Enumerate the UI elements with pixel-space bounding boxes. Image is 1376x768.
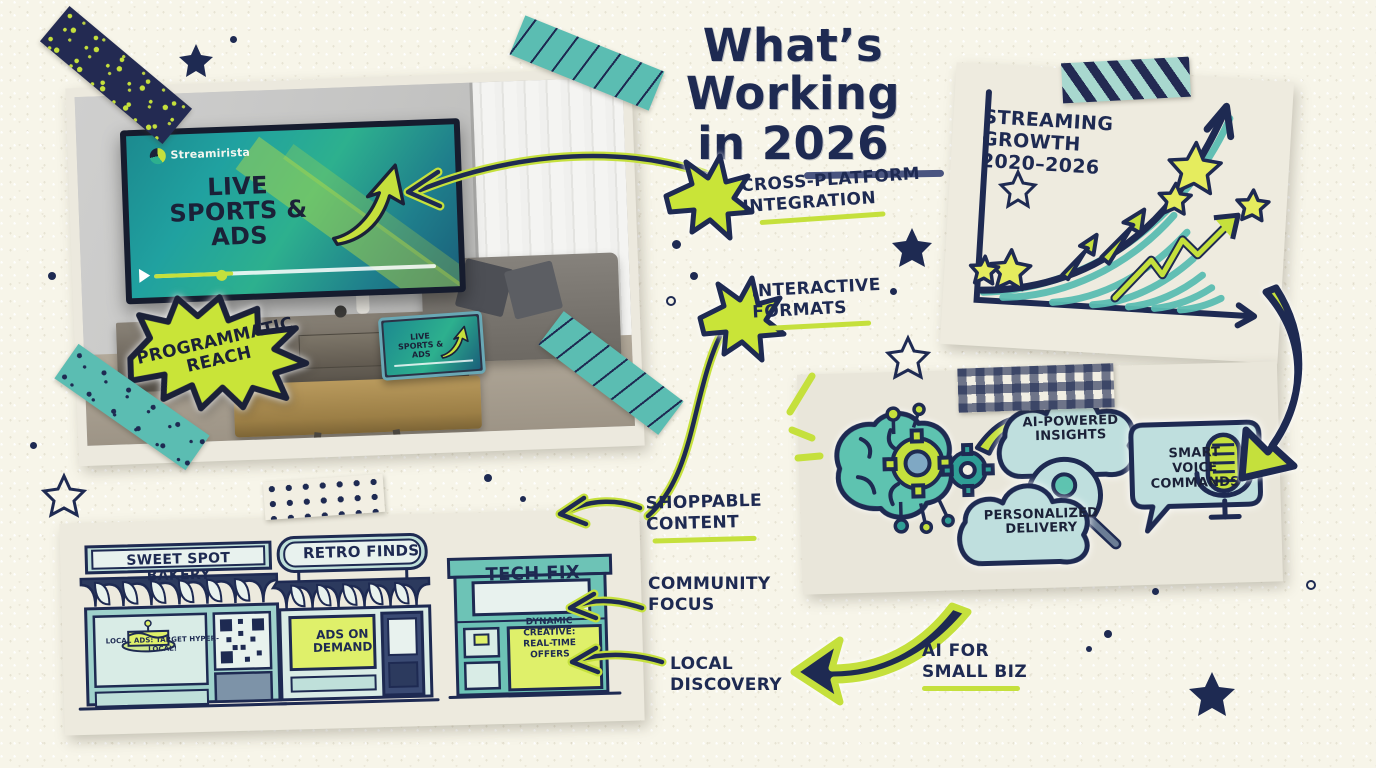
infographic-board: What’s Working in 2026	[0, 0, 1376, 768]
decor-dot	[48, 272, 56, 280]
decor-dot	[1104, 630, 1112, 638]
streaming-growth-chart	[940, 62, 1294, 364]
tablet-screen: LIVE SPORTS & ADS	[383, 316, 481, 375]
decor-dot	[1086, 646, 1092, 652]
label-ai-for-small-biz: AI FOR SMALL BIZ	[922, 641, 1034, 691]
label-underline	[767, 320, 871, 330]
decor-dot	[672, 240, 681, 249]
shop-note-techfix: DYNAMIC CREATIVE: REAL-TIME OFFERS	[514, 616, 585, 662]
growth-arrow-icon	[304, 157, 438, 246]
decor-dot	[484, 474, 492, 482]
label-line-2: FORMATS	[752, 298, 847, 323]
label-local-discovery: LOCAL DISCOVERY	[670, 654, 798, 696]
label-line-1: LOCAL	[670, 654, 733, 674]
shop-note-retro: ADS ON DEMAND	[302, 627, 383, 655]
label-shoppable-content: SHOPPABLE CONTENT	[645, 490, 774, 543]
decor-dot-outline	[1306, 580, 1316, 590]
tv-headline: LIVE SPORTS & ADS	[160, 172, 317, 253]
label-line-2: DISCOVERY	[670, 675, 782, 695]
page-title: What’s Working in 2026	[608, 22, 978, 178]
label-line-2: SMALL BIZ	[922, 662, 1027, 682]
streaming-brand-logo: Streamirista	[149, 145, 250, 165]
decor-dot	[230, 36, 237, 43]
label-line-1: COMMUNITY	[648, 574, 771, 594]
streaming-growth-card: 2020 STREAMING GROWTH 2020–2026	[940, 62, 1294, 364]
tablet-growth-arrow-icon	[434, 324, 476, 359]
washi-tape-gingham	[957, 363, 1114, 412]
brand-mark-icon	[149, 148, 166, 165]
shop-sign-techfix: TECH FIX	[469, 562, 598, 586]
personalized-delivery-label: PERSONALIZED DELIVERY	[976, 506, 1107, 538]
table-leg	[392, 429, 400, 436]
burst-label-text: PROGRAMMATIC REACH	[120, 311, 314, 391]
ai-powered-insights-label: AI-POWERED INSIGHTS	[1010, 413, 1131, 444]
label-line-2: CONTENT	[646, 512, 739, 534]
label-underline	[922, 686, 1020, 691]
label-line-1: INTERACTIVE	[751, 275, 881, 302]
table-leg	[314, 433, 322, 440]
label-line-1: AI FOR	[922, 641, 989, 661]
label-interactive-formats: INTERACTIVE FORMATS	[751, 274, 893, 331]
decor-dot-outline	[666, 296, 676, 306]
play-icon[interactable]	[139, 268, 151, 282]
tablet-device: LIVE SPORTS & ADS	[378, 311, 486, 381]
brand-name: Streamirista	[170, 146, 250, 162]
label-line-1: SHOPPABLE	[645, 491, 762, 514]
tablet-progress-bar	[394, 360, 473, 368]
title-line-1: What’s Working	[608, 22, 978, 118]
shop-sign-bakery: SWEET SPOT BAKERY	[96, 549, 261, 585]
decor-dot	[520, 496, 526, 502]
label-underline	[653, 536, 757, 544]
label-community-focus: COMMUNITY FOCUS	[648, 574, 776, 616]
decor-dot	[1152, 588, 1159, 595]
title-line-2: in 2026	[608, 118, 978, 170]
shop-note-bakery: LOCAL ADS: TARGET HYPER-LOCAL!	[102, 634, 222, 655]
progress-knob[interactable]	[216, 270, 227, 281]
smart-voice-commands-label: SMART VOICE COMMANDS	[1144, 444, 1245, 492]
local-storefronts-card: SWEET SPOT BAKERY RETRO FINDS TECH FIX L…	[59, 508, 644, 735]
decor-dot	[690, 272, 698, 280]
decor-dot	[30, 442, 37, 449]
washi-tape-diagonal-stripes	[1061, 57, 1191, 104]
washi-tape-polka-dots	[263, 474, 385, 520]
label-line-2: FOCUS	[648, 595, 715, 615]
